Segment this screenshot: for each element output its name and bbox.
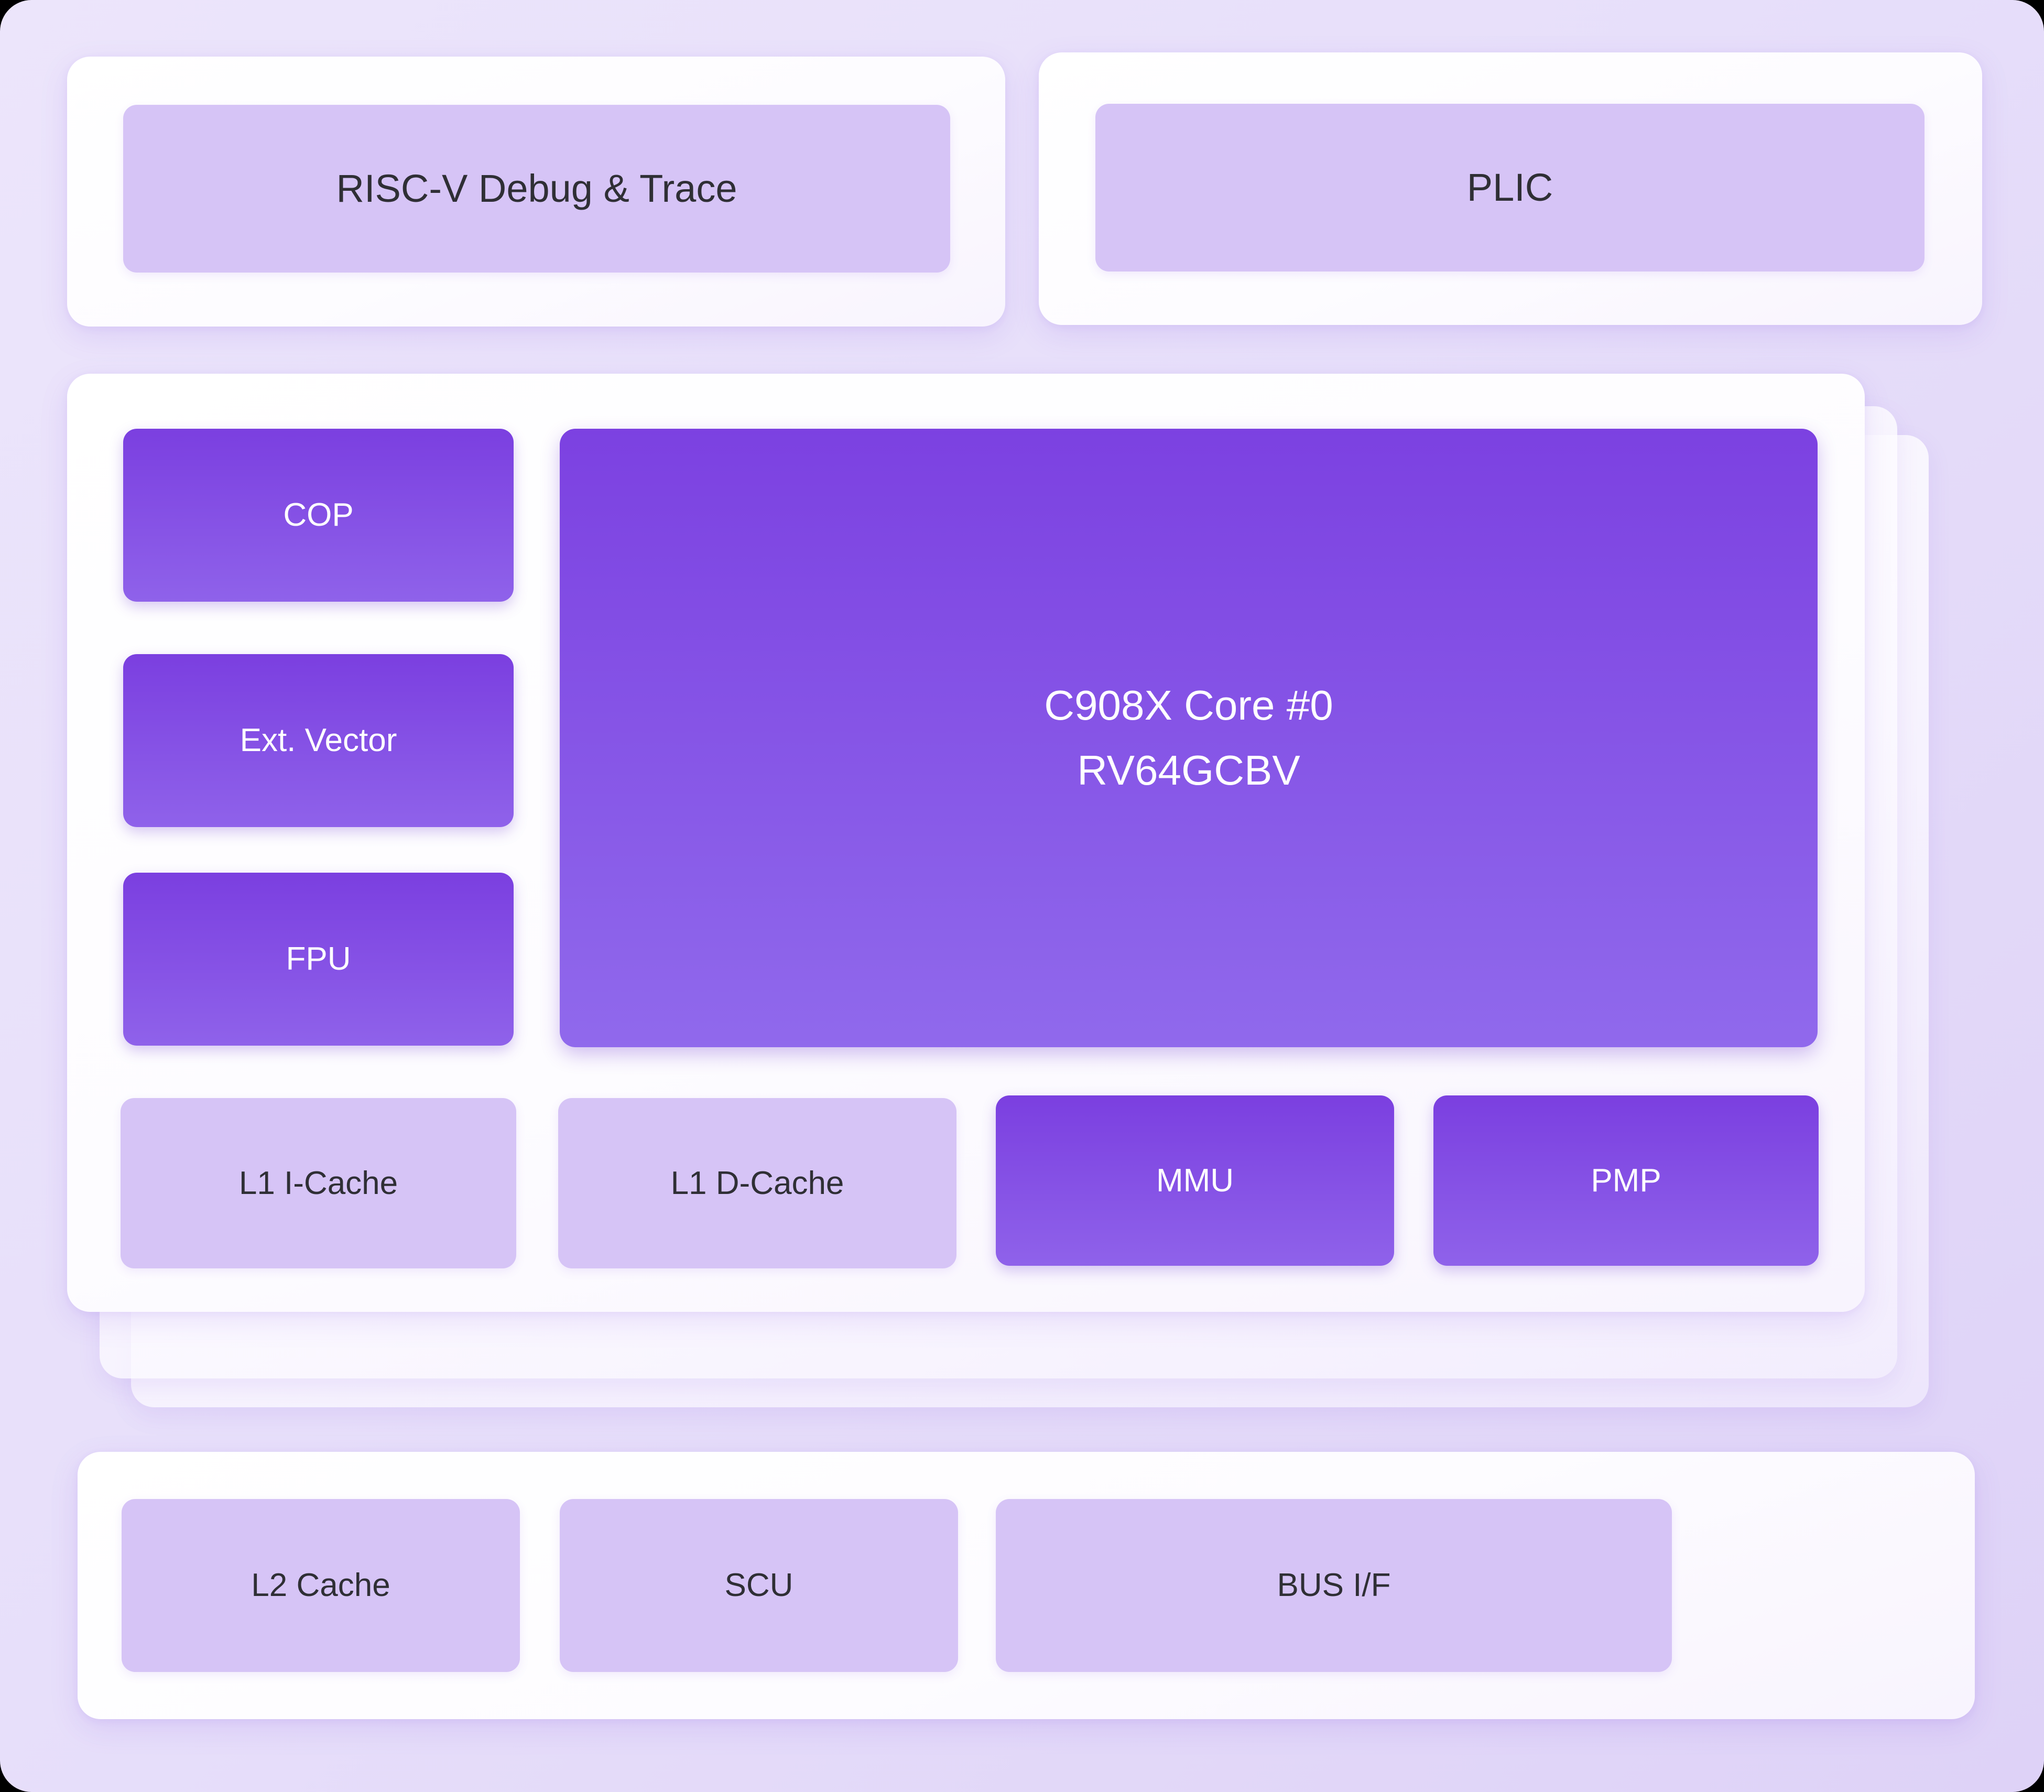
- core-isa: RV64GCBV: [1077, 745, 1300, 796]
- block-l1-i-cache[interactable]: L1 I-Cache: [121, 1098, 516, 1268]
- block-cop[interactable]: COP: [123, 429, 514, 602]
- soc-chassis: RISC-V Debug & Trace PLIC COP Ext. Vecto…: [0, 0, 2044, 1792]
- block-label: L2 Cache: [251, 1566, 390, 1605]
- block-label: BUS I/F: [1277, 1566, 1390, 1605]
- block-bus-interface[interactable]: BUS I/F: [996, 1499, 1672, 1672]
- diagram-canvas: RISC-V Debug & Trace PLIC COP Ext. Vecto…: [0, 0, 2044, 1792]
- block-label: L1 D-Cache: [671, 1164, 844, 1203]
- block-label: FPU: [286, 939, 351, 979]
- block-label: PMP: [1591, 1161, 1661, 1201]
- block-l1-d-cache[interactable]: L1 D-Cache: [558, 1098, 956, 1268]
- block-label: COP: [283, 495, 353, 535]
- block-label: MMU: [1156, 1161, 1234, 1201]
- block-label: SCU: [725, 1566, 793, 1605]
- block-ext-vector[interactable]: Ext. Vector: [123, 654, 514, 827]
- block-l2-cache[interactable]: L2 Cache: [122, 1499, 520, 1672]
- block-label: PLIC: [1467, 164, 1553, 211]
- block-scu[interactable]: SCU: [560, 1499, 958, 1672]
- block-label: Ext. Vector: [240, 721, 397, 761]
- block-pmp[interactable]: PMP: [1433, 1095, 1819, 1266]
- block-label: L1 I-Cache: [239, 1164, 398, 1203]
- core-name: C908X Core #0: [1044, 680, 1333, 731]
- block-risc-v-debug-and-trace[interactable]: RISC-V Debug & Trace: [123, 105, 950, 273]
- block-label: RISC-V Debug & Trace: [336, 165, 737, 212]
- block-fpu[interactable]: FPU: [123, 873, 514, 1046]
- block-plic[interactable]: PLIC: [1095, 104, 1925, 271]
- block-c908x-core[interactable]: C908X Core #0 RV64GCBV: [560, 429, 1818, 1047]
- block-mmu[interactable]: MMU: [996, 1095, 1394, 1266]
